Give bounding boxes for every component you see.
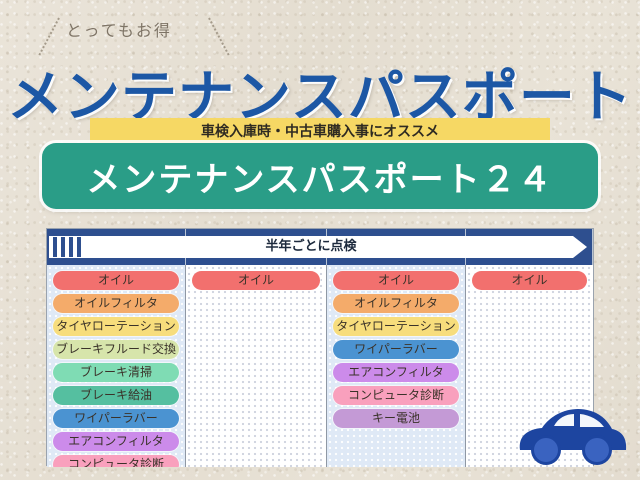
service-pill: オイル [333,271,459,290]
table-header-row: 半年ごとに点検 [47,229,593,265]
service-pill: オイル [53,271,179,290]
interval-arrow: 半年ごとに点検 [49,236,587,258]
interval-arrow-label: 半年ごとに点検 [49,236,573,258]
service-pill: キー電池 [333,409,459,428]
arrow-head-icon [573,236,587,258]
service-pill: オイルフィルタ [333,294,459,313]
car-wheel-front-inner [534,438,558,462]
product-name-text: メンテナンスパスポート２４ [86,152,553,201]
service-pill: エアコンフィルタ [333,363,459,382]
service-pill: オイル [472,271,587,290]
eyebrow-text: とってもお得 [66,17,172,41]
poster-canvas: とってもお得 メンテナンスパスポート 車検入庫時・中古車購入事にオススメ メンテ… [0,0,640,480]
car-wheel-rear-inner [585,438,609,462]
product-name-bar: メンテナンスパスポート２４ [42,143,598,209]
service-pill: エアコンフィルタ [53,432,179,451]
recommend-banner-text: 車検入庫時・中古車購入事にオススメ [201,121,439,141]
service-pill: コンピュータ診断 [333,386,459,405]
table-column-3: オイルオイルフィルタタイヤローテーションワイパーラバーエアコンフィルタコンピュー… [327,265,466,467]
service-pill: ブレーキ給油 [53,386,179,405]
service-pill: ワイパーラバー [53,409,179,428]
dashed-accent-left-icon [38,18,59,56]
service-pill: ワイパーラバー [333,340,459,359]
eyebrow-group: とってもお得 [0,14,300,50]
recommend-banner: 車検入庫時・中古車購入事にオススメ [90,118,550,144]
service-pill: オイル [192,271,320,290]
car-icon [512,396,630,470]
table-column-1: オイルオイルフィルタタイヤローテーションブレーキフルード交換ブレーキ清掃ブレーキ… [47,265,186,467]
service-pill: ブレーキ清掃 [53,363,179,382]
service-pill: オイルフィルタ [53,294,179,313]
service-pill: タイヤローテーション [53,317,179,336]
dashed-accent-right-icon [208,18,229,56]
car-illustration [512,396,630,470]
service-pill: コンピュータ診断 [53,455,179,467]
service-pill: ブレーキフルード交換 [53,340,179,359]
service-pill: タイヤローテーション [333,317,459,336]
table-column-2: オイル [186,265,327,467]
